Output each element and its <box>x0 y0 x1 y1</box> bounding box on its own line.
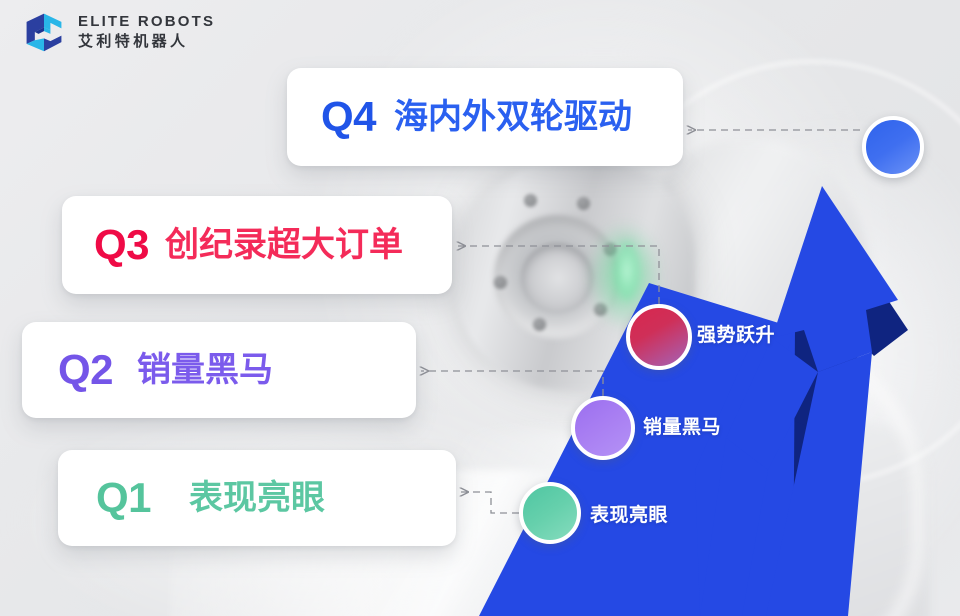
quarter-card-q3[interactable]: Q3 创纪录超大订单 <box>62 196 452 294</box>
robot-outline-arc-lower <box>560 330 924 616</box>
quarter-card-q2-text: 销量黑马 <box>137 353 273 387</box>
connector-q2 <box>421 371 603 396</box>
milestone-dot-q1[interactable] <box>519 482 581 544</box>
connector-q3 <box>458 246 659 304</box>
milestone-dot-q2[interactable] <box>571 396 635 460</box>
arrow-notch-side <box>772 328 845 428</box>
elite-robots-cube-logo-icon <box>22 10 66 54</box>
arrow-head-face <box>772 186 898 372</box>
arrow-body-face-lower <box>695 328 795 616</box>
arrow-shaft-lower-face <box>700 438 768 616</box>
flange-bolt-icon <box>494 276 507 289</box>
quarter-card-q2[interactable]: Q2 销量黑马 <box>22 322 416 418</box>
arrow-head-shadow <box>816 252 908 356</box>
milestone-label-q3: 强势跃升 <box>697 320 775 347</box>
flange-bolt-icon <box>577 197 590 210</box>
milestone-dot-q3[interactable] <box>626 304 692 370</box>
brand-logo-text: ELITE ROBOTS 艾利特机器人 <box>78 13 215 51</box>
flange-bolt-icon <box>604 243 617 256</box>
robot-flange-inner-ring <box>494 215 620 339</box>
flange-bolt-icon <box>524 194 537 207</box>
robot-flange-bore <box>521 243 593 313</box>
background-highlight-b <box>640 120 960 616</box>
brand-name-cn: 艾利特机器人 <box>78 32 215 52</box>
brand-name-en: ELITE ROBOTS <box>78 13 215 32</box>
quarter-card-q2-quarter: Q2 <box>58 349 113 391</box>
arrow-body-side <box>700 328 845 616</box>
quarter-card-q1-quarter: Q1 <box>96 477 151 519</box>
quarter-card-q4-quarter: Q4 <box>321 96 376 138</box>
infographic-canvas: ELITE ROBOTS 艾利特机器人 Q4 海内外双轮驱动 Q3 创纪录超大订… <box>0 0 960 616</box>
flange-bolt-icon <box>533 318 546 331</box>
robot-body-shape <box>640 140 870 440</box>
flange-bolt-icon <box>594 303 607 316</box>
quarter-card-q4[interactable]: Q4 海内外双轮驱动 <box>287 68 683 166</box>
brand-logo[interactable]: ELITE ROBOTS 艾利特机器人 <box>22 10 215 54</box>
connector-q1 <box>461 492 519 513</box>
quarter-card-q1-text: 表现亮眼 <box>189 481 325 515</box>
arrow-shaft-right-face <box>766 352 872 616</box>
quarter-card-q3-quarter: Q3 <box>94 224 149 266</box>
milestone-dot-q4[interactable] <box>862 116 924 178</box>
quarter-card-q1[interactable]: Q1 表现亮眼 <box>58 450 456 546</box>
arrow-fold-side <box>772 326 866 428</box>
arrow-shaft-face <box>726 338 818 470</box>
quarter-card-q3-text: 创纪录超大订单 <box>165 228 403 262</box>
milestone-label-q2: 销量黑马 <box>643 412 721 439</box>
robot-led-core <box>614 240 640 302</box>
quarter-card-q4-text: 海内外双轮驱动 <box>394 100 632 134</box>
milestone-label-q1: 表现亮眼 <box>590 500 668 527</box>
